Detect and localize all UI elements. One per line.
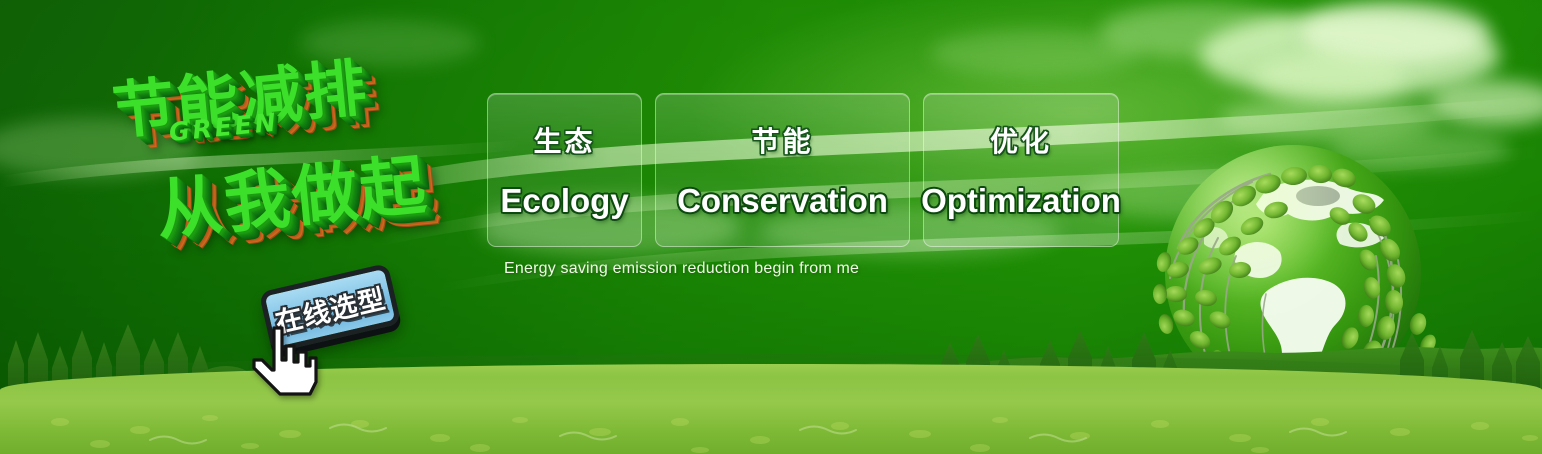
headline-bottom-line: 从我做起 <box>151 132 431 254</box>
feature-card-en-label: Conservation <box>677 182 888 220</box>
hero-headline: 节能减排 GREEN 从我做起 <box>94 26 494 286</box>
green-energy-banner: 节能减排 GREEN 从我做起 生态 Ecology 节能 Conservati… <box>0 0 1542 454</box>
feature-card-cn-label: 节能 <box>751 120 813 160</box>
feature-card-cn-label: 优化 <box>990 120 1052 160</box>
feature-card-en-label: Ecology <box>500 182 628 220</box>
feature-card-conservation[interactable]: 节能 Conservation <box>655 93 910 247</box>
feature-card-en-label: Optimization <box>921 182 1121 220</box>
feature-card-optimization[interactable]: 优化 Optimization <box>923 93 1119 247</box>
feature-card-cn-label: 生态 <box>533 120 595 160</box>
grass-field-icon <box>0 364 1542 454</box>
feature-card-ecology[interactable]: 生态 Ecology <box>487 93 642 247</box>
tagline-text: Energy saving emission reduction begin f… <box>504 260 859 278</box>
